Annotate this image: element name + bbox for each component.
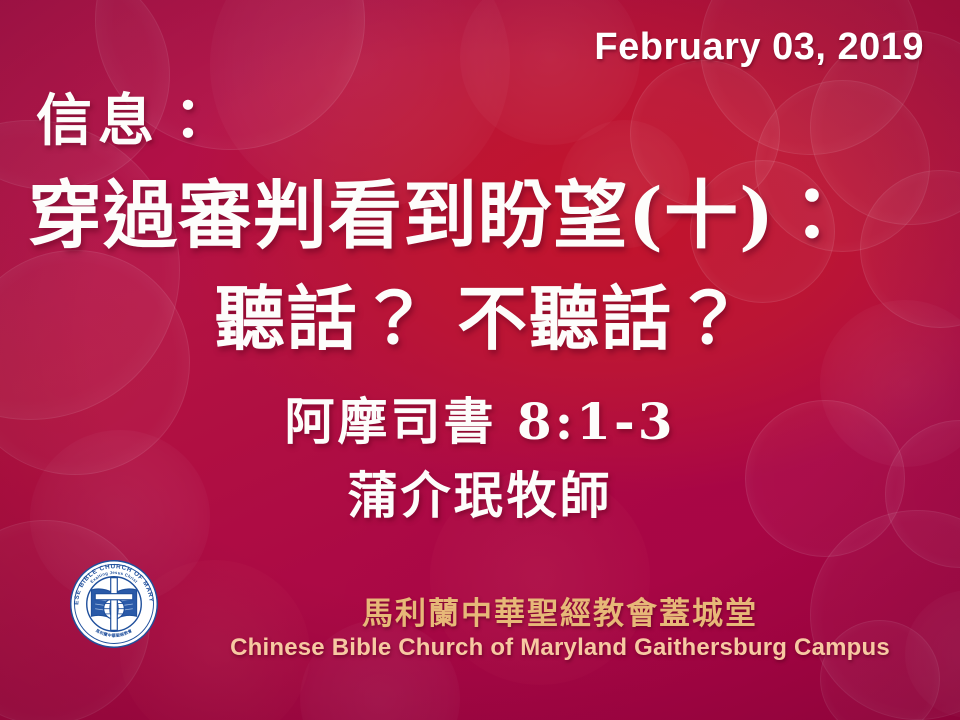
- scripture-reference: 阿摩司書 8:1-3: [0, 382, 960, 454]
- church-logo: CHINESE BIBLE CHURCH OF MARYLAND Exaltin…: [67, 557, 161, 651]
- church-name-english: Chinese Bible Church of Maryland Gaither…: [170, 634, 950, 662]
- sermon-title-slide: February 03, 2019 信息： 穿過審判看到盼望(十)： 聽話？ 不…: [0, 0, 960, 720]
- footer: 馬利蘭中華聖經教會蓋城堂 Chinese Bible Church of Mar…: [170, 596, 950, 662]
- message-label: 信息：: [36, 93, 222, 149]
- sermon-title-line-2: 聽話？ 不聽話？: [0, 281, 960, 357]
- sermon-title-line-1: 穿過審判看到盼望(十)：: [28, 177, 946, 257]
- church-name-chinese: 馬利蘭中華聖經教會蓋城堂: [170, 596, 950, 633]
- speaker-name: 蒲介珉牧師: [0, 456, 960, 528]
- slide-date: February 03, 2019: [594, 26, 924, 69]
